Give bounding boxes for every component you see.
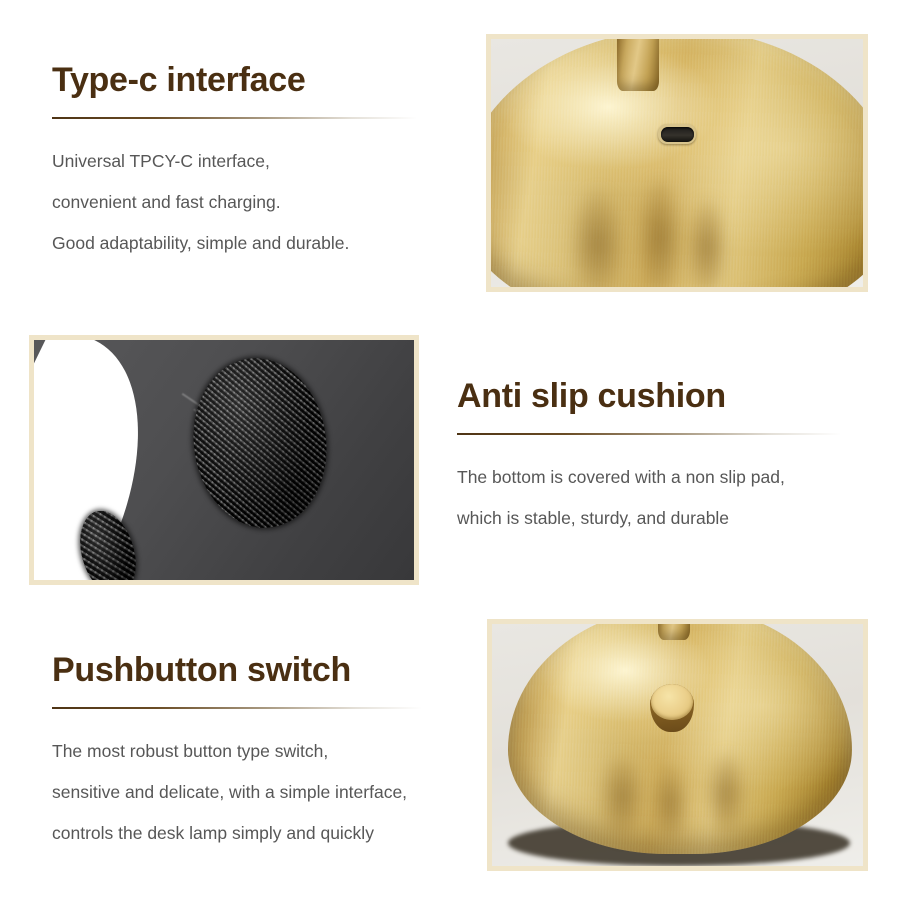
- dome-reflection: [637, 179, 683, 287]
- body-line: The bottom is covered with a non slip pa…: [457, 457, 841, 498]
- usb-c-port-photo[interactable]: [486, 34, 868, 292]
- product-feature-page: { "page": { "background_color": "#ffffff…: [0, 0, 900, 900]
- heading-divider: [457, 433, 841, 435]
- dome-reflection: [706, 752, 746, 836]
- feature-body: Universal TPCY-C interface, convenient a…: [52, 141, 417, 264]
- feature-body: The bottom is covered with a non slip pa…: [457, 457, 841, 539]
- body-line: convenient and fast charging.: [52, 182, 417, 223]
- photo-inner: [492, 624, 863, 866]
- lamp-stem: [617, 39, 659, 91]
- pushbutton-switch-photo[interactable]: [487, 619, 868, 871]
- body-line: Good adaptability, simple and durable.: [52, 223, 417, 264]
- heading-divider: [52, 117, 417, 119]
- body-line: which is stable, sturdy, and durable: [457, 498, 841, 539]
- feature-block-pushbutton-switch: Pushbutton switch The most robust button…: [52, 652, 422, 854]
- body-line: controls the desk lamp simply and quickl…: [52, 813, 422, 854]
- dome-reflection: [652, 764, 688, 844]
- body-line: sensitive and delicate, with a simple in…: [52, 772, 422, 813]
- lamp-stem: [658, 624, 690, 640]
- body-line: Universal TPCY-C interface,: [52, 141, 417, 182]
- feature-heading: Type-c interface: [52, 62, 417, 99]
- feature-heading: Pushbutton switch: [52, 652, 422, 689]
- dome-reflection: [687, 199, 727, 287]
- feature-body: The most robust button type switch, sens…: [52, 731, 422, 854]
- heading-divider: [52, 707, 422, 709]
- photo-inner: [34, 340, 414, 580]
- anti-slip-pad-large: [183, 350, 337, 537]
- pad-sheen: [183, 350, 337, 537]
- feature-block-type-c-interface: Type-c interface Universal TPCY-C interf…: [52, 62, 417, 264]
- usb-c-port-icon: [658, 124, 696, 144]
- dome-reflection: [600, 754, 644, 840]
- feature-block-anti-slip-cushion: Anti slip cushion The bottom is covered …: [457, 378, 841, 539]
- photo-inner: [491, 39, 863, 287]
- body-line: The most robust button type switch,: [52, 731, 422, 772]
- feature-heading: Anti slip cushion: [457, 378, 841, 415]
- anti-slip-pad-photo[interactable]: [29, 335, 419, 585]
